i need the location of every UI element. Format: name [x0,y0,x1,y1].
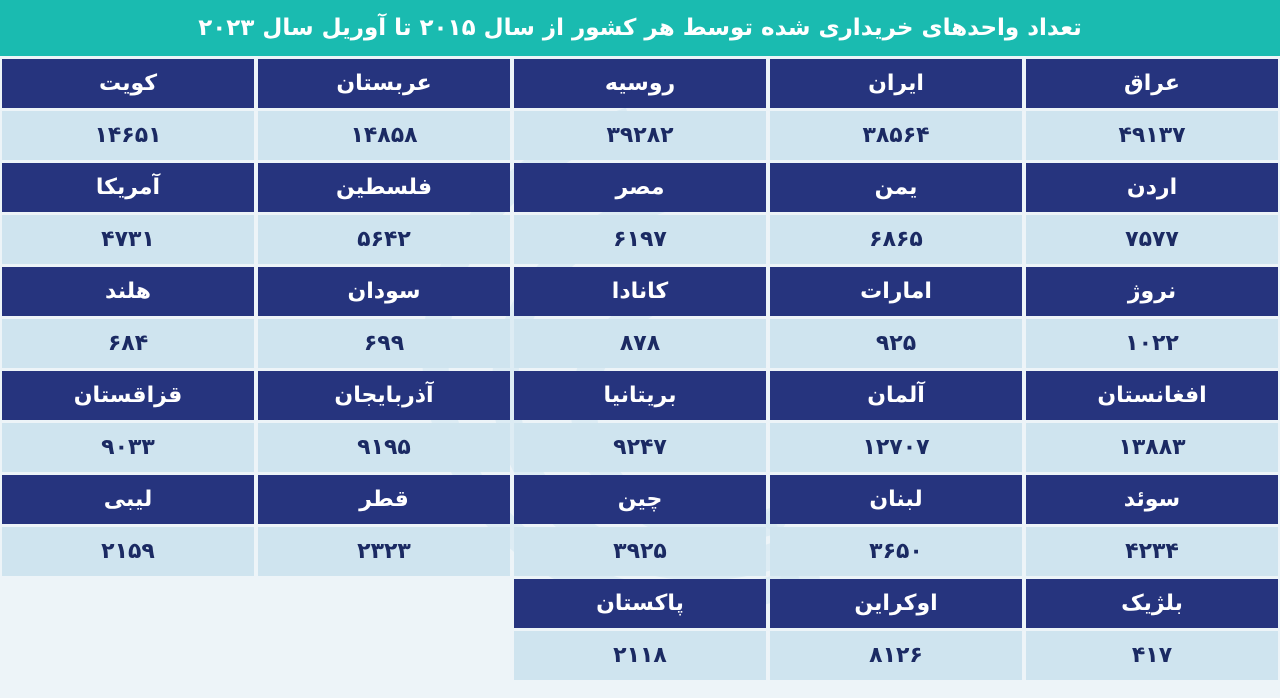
country-value-cell: ۴۱۷ [1026,631,1278,680]
country-value-cell: ۲۳۲۳ [258,527,510,576]
country-name-cell: لیبی [2,475,254,524]
country-value-cell: ۲۱۵۹ [2,527,254,576]
country-value-cell: ۴۲۳۴ [1026,527,1278,576]
country-value-cell: ۹۱۹۵ [258,423,510,472]
country-value-cell: ۱۰۲۲ [1026,319,1278,368]
empty-cell [2,631,254,680]
infographic-table: تعداد واحدهای خریداری شده توسط هر کشور ا… [0,0,1280,698]
country-value-cell: ۳۸۵۶۴ [770,111,1022,160]
country-value-cell: ۹۲۵ [770,319,1022,368]
country-value-cell: ۱۲۷۰۷ [770,423,1022,472]
country-value-cell: ۹۲۴۷ [514,423,766,472]
country-name-cell: کویت [2,59,254,108]
chart-title-text: تعداد واحدهای خریداری شده توسط هر کشور ا… [198,15,1082,41]
country-value-cell: ۶۸۶۵ [770,215,1022,264]
country-value-cell: ۳۹۲۸۲ [514,111,766,160]
country-value-cell: ۶۸۴ [2,319,254,368]
country-name-cell: امارات [770,267,1022,316]
country-name-cell: هلند [2,267,254,316]
empty-cell [258,631,510,680]
country-value-cell: ۱۴۸۵۸ [258,111,510,160]
country-name-cell: یمن [770,163,1022,212]
country-value-cell: ۸۱۲۶ [770,631,1022,680]
country-value-cell: ۸۷۸ [514,319,766,368]
country-value-cell: ۵۶۴۲ [258,215,510,264]
country-name-cell: سودان [258,267,510,316]
country-name-cell: عربستان [258,59,510,108]
country-name-cell: لبنان [770,475,1022,524]
country-value-cell: ۹۰۳۳ [2,423,254,472]
empty-cell [2,579,254,628]
country-value-cell: ۲۱۱۸ [514,631,766,680]
country-value-cell: ۶۱۹۷ [514,215,766,264]
country-name-cell: مصر [514,163,766,212]
country-value-cell: ۶۹۹ [258,319,510,368]
country-value-cell: ۴۹۱۳۷ [1026,111,1278,160]
country-name-cell: نروژ [1026,267,1278,316]
country-name-cell: اردن [1026,163,1278,212]
country-name-cell: ایران [770,59,1022,108]
country-value-cell: ۱۳۸۸۳ [1026,423,1278,472]
country-name-cell: روسیه [514,59,766,108]
country-name-cell: اوکراین [770,579,1022,628]
country-name-cell: سوئد [1026,475,1278,524]
empty-cell [258,579,510,628]
country-name-cell: کانادا [514,267,766,316]
country-name-cell: فلسطین [258,163,510,212]
country-units-grid: عراق ایران روسیه عربستان کویت ۴۹۱۳۷ ۳۸۵۶… [0,59,1280,680]
country-value-cell: ۱۴۶۵۱ [2,111,254,160]
country-value-cell: ۷۵۷۷ [1026,215,1278,264]
country-value-cell: ۳۶۵۰ [770,527,1022,576]
country-name-cell: قطر [258,475,510,524]
country-name-cell: پاکستان [514,579,766,628]
chart-title: تعداد واحدهای خریداری شده توسط هر کشور ا… [0,0,1280,56]
country-name-cell: بریتانیا [514,371,766,420]
country-name-cell: آمریکا [2,163,254,212]
country-name-cell: قزاقستان [2,371,254,420]
country-name-cell: چین [514,475,766,524]
country-value-cell: ۳۹۲۵ [514,527,766,576]
country-name-cell: عراق [1026,59,1278,108]
country-name-cell: آذربایجان [258,371,510,420]
country-name-cell: آلمان [770,371,1022,420]
country-value-cell: ۴۷۳۱ [2,215,254,264]
country-name-cell: بلژیک [1026,579,1278,628]
country-name-cell: افغانستان [1026,371,1278,420]
